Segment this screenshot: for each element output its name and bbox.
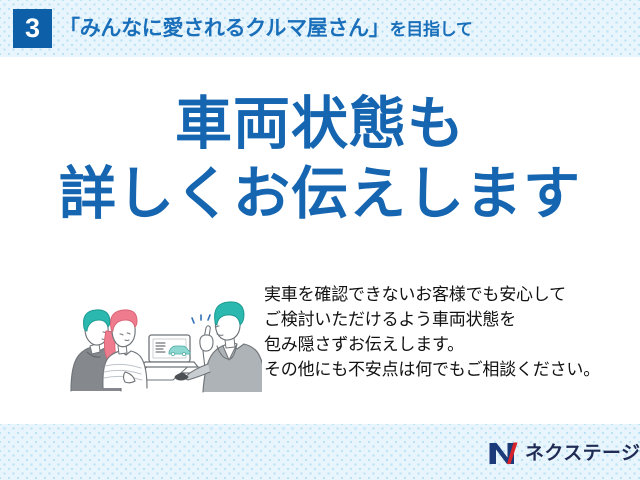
brand-logo: ネクステージ	[489, 440, 640, 466]
headline: 車両状態も 詳しくお伝えします	[0, 96, 640, 223]
body-copy-line-2: ご検討いただけるよう車両状態を	[264, 307, 616, 332]
step-number-badge: 3	[13, 9, 52, 48]
page-title: 「みんなに愛されるクルマ屋さん」を目指して	[59, 12, 473, 46]
body-copy: 実車を確認できないお客様でも安心して ご検討いただけるよう車両状態を 包み隠さず…	[264, 282, 616, 382]
body-copy-line-3: 包み隠さずお伝えします。	[264, 332, 616, 357]
laptop-icon	[141, 335, 198, 367]
advertisement-page: 3 「みんなに愛されるクルマ屋さん」を目指して 車両状態も 詳しくお伝えします	[0, 0, 640, 480]
body-copy-line-1: 実車を確認できないお客様でも安心して	[264, 282, 616, 307]
headline-line-1: 車両状態も	[0, 96, 640, 153]
nextage-n-icon	[489, 442, 518, 465]
consultation-illustration	[57, 276, 262, 394]
consultation-illustration-svg	[57, 276, 262, 394]
body-copy-line-4: その他にも不安点は何でもご相談ください。	[264, 357, 616, 382]
page-title-main: 「みんなに愛されるクルマ屋さん」	[59, 17, 390, 40]
headline-line-2: 詳しくお伝えします	[0, 166, 640, 223]
brand-wordmark: ネクステージ	[525, 442, 640, 465]
page-title-suffix: を目指して	[390, 20, 473, 39]
